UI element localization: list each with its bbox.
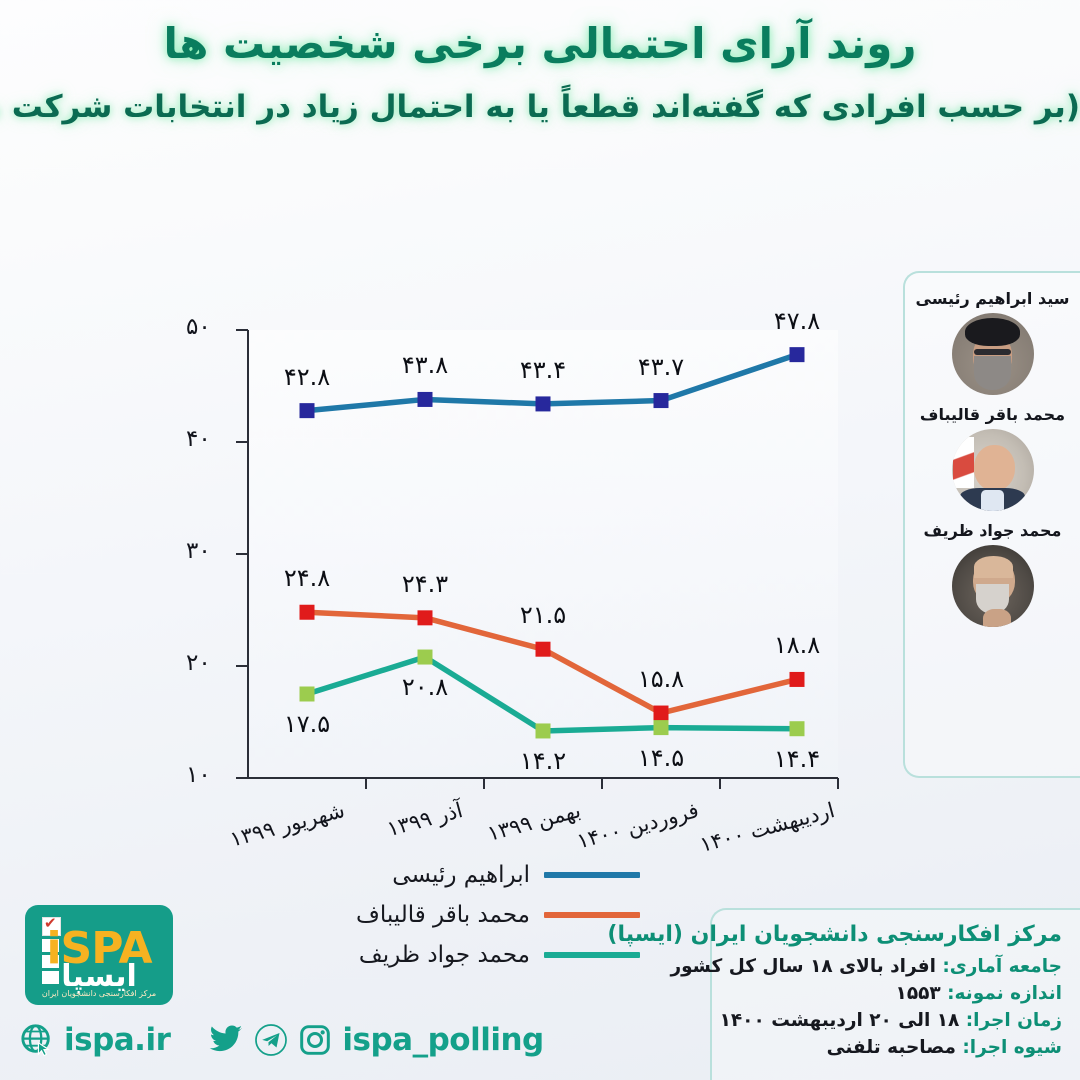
survey-info-box: مرکز افکارسنجی دانشجویان ایران (ایسپا) ج…	[710, 908, 1080, 1080]
y-axis-tick-label: ۲۰	[186, 650, 246, 676]
data-label: ۲۰.۸	[389, 673, 461, 701]
telegram-icon[interactable]	[254, 1023, 288, 1057]
survey-info-line: جامعه آماری: افراد بالای ۱۸ سال کل کشور	[726, 956, 1062, 977]
info-value: مصاحبه تلفنی	[827, 1037, 956, 1058]
person-name: محمد جواد ظریف	[905, 521, 1080, 540]
person-name: سید ابراهیم رئیسی	[905, 289, 1080, 308]
info-key: شیوه اجرا:	[956, 1037, 1062, 1058]
data-label: ۱۷.۵	[271, 710, 343, 738]
data-label: ۴۲.۸	[271, 363, 343, 391]
data-label: ۴۳.۷	[625, 353, 697, 381]
globe-icon[interactable]	[20, 1023, 54, 1057]
data-label: ۲۴.۳	[389, 570, 461, 598]
chart-legend: ابراهیم رئیسیمحمد باقر قالیبافمحمد جواد …	[330, 855, 660, 975]
data-label: ۱۸.۸	[761, 631, 833, 659]
website-label[interactable]: ispa.ir	[64, 1022, 170, 1058]
survey-info-line: شیوه اجرا: مصاحبه تلفنی	[726, 1037, 1062, 1058]
legend-color-swatch	[544, 872, 640, 878]
page-title: روند آرای احتمالی برخی شخصیت ها	[0, 18, 1080, 71]
data-label: ۱۴.۲	[507, 747, 579, 775]
face-shape	[974, 445, 1015, 491]
legend-label: محمد باقر قالیباف	[330, 902, 530, 928]
legend-label: ابراهیم رئیسی	[330, 862, 530, 888]
legend-color-swatch	[544, 952, 640, 958]
title-block: روند آرای احتمالی برخی شخصیت ها (بر حسب …	[0, 0, 1080, 185]
data-label: ۱۵.۸	[625, 665, 697, 693]
data-label: ۱۴.۵	[625, 744, 697, 772]
y-axis-tick-label: ۱۰	[186, 762, 246, 788]
info-value: ۱۵۵۳	[896, 983, 941, 1004]
avatar-zarif	[952, 545, 1034, 627]
survey-info-line: زمان اجرا: ۱۸ الی ۲۰ اردیبهشت ۱۴۰۰	[726, 1010, 1062, 1031]
person-card-raisi: سید ابراهیم رئیسی	[905, 289, 1080, 395]
data-label: ۲۴.۸	[271, 564, 343, 592]
info-key: جامعه آماری:	[936, 956, 1062, 977]
chart-series	[300, 348, 804, 738]
glasses-shape	[974, 349, 1012, 355]
legend-label: محمد جواد ظریف	[330, 942, 530, 968]
page-subtitle: (بر حسب افرادی که گفته‌اند قطعاً یا به ا…	[0, 87, 1080, 127]
person-card-ghalibaf: محمد باقر قالیباف	[905, 405, 1080, 511]
logo-tagline: مرکز افکارسنجی دانشجویان ایران	[25, 989, 173, 998]
handle-label[interactable]: ispa_polling	[342, 1022, 543, 1058]
data-label: ۲۱.۵	[507, 601, 579, 629]
organization-name: مرکز افکارسنجی دانشجویان ایران (ایسپا)	[726, 922, 1062, 947]
instagram-icon[interactable]	[298, 1023, 332, 1057]
survey-info-lines: جامعه آماری: افراد بالای ۱۸ سال کل کشورا…	[726, 956, 1062, 1058]
info-key: زمان اجرا:	[959, 1010, 1062, 1031]
y-axis-tick-label: ۵۰	[186, 314, 246, 340]
shirt-shape	[981, 490, 1004, 511]
y-axis-tick-label: ۴۰	[186, 426, 246, 452]
legend-item[interactable]: ابراهیم رئیسی	[330, 855, 660, 895]
person-name: محمد باقر قالیباف	[905, 405, 1080, 424]
people-panel: سید ابراهیم رئیسی محمد باقر قالیباف محمد…	[903, 271, 1080, 778]
avatar-raisi	[952, 313, 1034, 395]
info-value: افراد بالای ۱۸ سال کل کشور	[670, 956, 936, 977]
line-chart: ۱۰۲۰۳۰۴۰۵۰ شهریور ۱۳۹۹آذر ۱۳۹۹بهمن ۱۳۹۹ف…	[0, 240, 900, 860]
data-label: ۴۳.۸	[389, 351, 461, 379]
beard-shape	[974, 356, 1012, 390]
survey-info-line: اندازه نمونه: ۱۵۵۳	[726, 983, 1062, 1004]
turban-shape	[965, 318, 1021, 346]
legend-color-swatch	[544, 912, 640, 918]
y-axis-tick-label: ۳۰	[186, 538, 246, 564]
data-label: ۴۷.۸	[761, 307, 833, 335]
ispa-logo: iSPA ایسپا مرکز افکارسنجی دانشجویان ایرا…	[25, 905, 173, 1005]
iran-flag-shape	[953, 437, 974, 488]
forehead-shape	[974, 556, 1013, 577]
data-label: ۱۴.۴	[761, 745, 833, 773]
avatar-ghalibaf	[952, 429, 1034, 511]
data-label: ۴۳.۴	[507, 356, 579, 384]
info-key: اندازه نمونه:	[941, 983, 1062, 1004]
hand-shape	[983, 609, 1011, 627]
person-card-zarif: محمد جواد ظریف	[905, 521, 1080, 627]
info-value: ۱۸ الی ۲۰ اردیبهشت ۱۴۰۰	[720, 1010, 960, 1031]
social-bar: ispa.ir ispa_polling	[20, 1022, 544, 1058]
twitter-icon[interactable]	[208, 1024, 244, 1056]
